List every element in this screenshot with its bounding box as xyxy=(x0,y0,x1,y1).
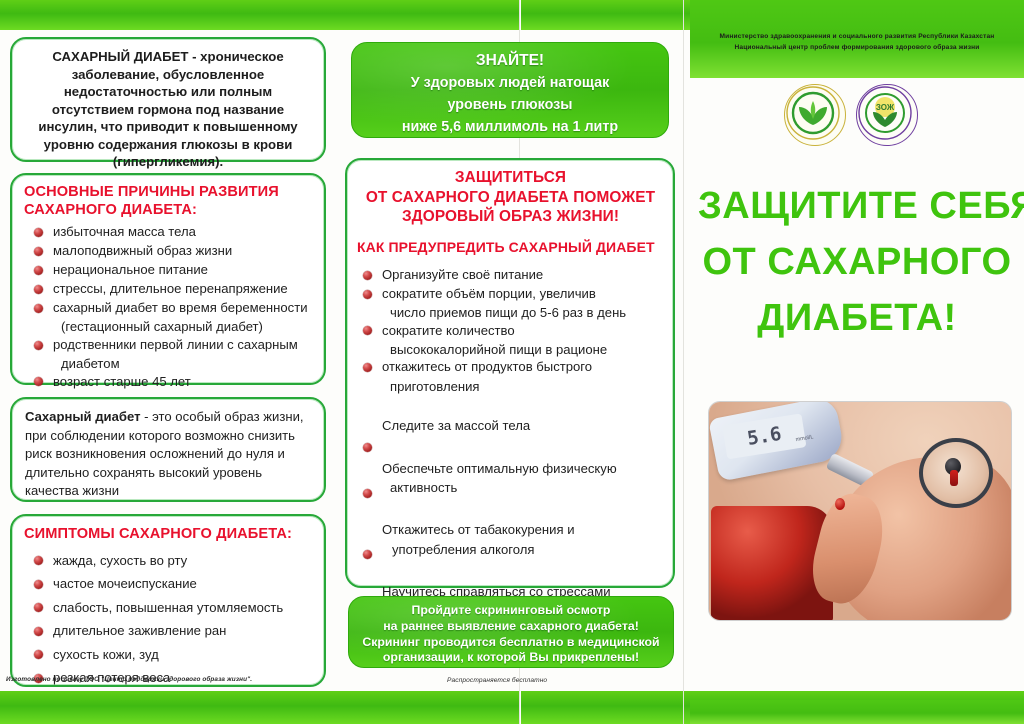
list-item-continuation: диабетом xyxy=(32,355,314,373)
protect-heading-line-3: ЗДОРОВЫЙ ОБРАЗ ЖИЗНИ! xyxy=(357,207,664,227)
bullet-icon xyxy=(34,627,43,636)
bullet-icon xyxy=(34,266,43,275)
list-item-text: нерациональное питание xyxy=(53,262,208,277)
list-item-text: частое мочеиспускание xyxy=(53,576,197,591)
list-item: сухость кожи, зуд xyxy=(32,646,314,664)
definition-line-3: недостаточностью или полным xyxy=(26,83,310,101)
bullet-icon xyxy=(34,285,43,294)
causes-heading: ОСНОВНЫЕ ПРИЧИНЫ РАЗВИТИЯ САХАРНОГО ДИАБ… xyxy=(24,184,314,219)
page-title-line-2: ОТ САХАРНОГО xyxy=(698,234,1016,290)
bullet-icon xyxy=(34,377,43,386)
list-item-text: жажда, сухость во рту xyxy=(53,553,187,568)
definition-line-6: уровню содержания глюкозы в крови xyxy=(26,136,310,154)
top-band-left xyxy=(0,0,519,30)
zozh-emblem-icon: ЗОЖ xyxy=(856,84,918,146)
screening-line-1: Пройдите скрининговый осмотр xyxy=(349,603,673,619)
svg-text:ЗОЖ: ЗОЖ xyxy=(876,103,895,112)
list-item-text: Откажитесь от табакокурения и xyxy=(382,522,575,537)
page-title-line-1: ЗАЩИТИТЕ СЕБЯ xyxy=(698,178,1016,234)
list-item-text: малоподвижный образ жизни xyxy=(53,243,232,258)
test-strip-icon xyxy=(919,438,993,508)
list-item: частое мочеиспускание xyxy=(32,575,314,593)
know-box-line-3: ниже 5,6 миллимоль на 1 литр xyxy=(352,116,668,138)
bullet-icon xyxy=(34,580,43,589)
glucometer-photo: 5.6 mmol/L xyxy=(708,401,1012,621)
list-item: нерациональное питание xyxy=(32,261,314,279)
definition-text: САХАРНЫЙ ДИАБЕТ - хроническое заболевани… xyxy=(12,39,324,179)
screening-line-4: организации, к которой Вы прикреплены! xyxy=(349,650,673,666)
symptoms-heading: СИМПТОМЫ САХАРНОГО ДИАБЕТА: xyxy=(24,526,314,544)
list-item: стрессы, длительное перенапряжение xyxy=(32,280,314,298)
brochure-page: САХАРНЫЙ ДИАБЕТ - хроническое заболевани… xyxy=(0,0,1024,724)
ministry-line-2: Национальный центр проблем формирования … xyxy=(704,43,1010,54)
lifestyle-note-text: Сахарный диабет - это особый образ жизни… xyxy=(12,399,324,509)
list-item-text: сократите количество xyxy=(382,323,515,338)
list-item: длительное заживление ран xyxy=(32,622,314,640)
protect-subheading: КАК ПРЕДУПРЕДИТЬ САХАРНЫЙ ДИАБЕТ xyxy=(357,239,664,257)
definition-line-7: (гипергликемия). xyxy=(26,153,310,171)
list-item-continuation: активность xyxy=(361,479,664,497)
definition-line-2: заболевание, обусловленное xyxy=(26,66,310,84)
bullet-icon xyxy=(34,304,43,313)
know-box: ЗНАЙТЕ! У здоровых людей натощак уровень… xyxy=(351,42,669,138)
list-item-text: сократите объём порции, увеличив xyxy=(382,286,596,301)
list-item-text: Обеспечьте оптимальную физическую xyxy=(382,461,617,476)
definition-card: САХАРНЫЙ ДИАБЕТ - хроническое заболевани… xyxy=(10,37,326,162)
protect-heading: ЗАЩИТИТЬСЯ ОТ САХАРНОГО ДИАБЕТА ПОМОЖЕТ … xyxy=(357,168,664,227)
bullet-icon xyxy=(34,341,43,350)
screening-line-3: Скрининг проводится бесплатно в медицинс… xyxy=(349,635,673,651)
bullet-icon xyxy=(34,247,43,256)
list-item: сократите количество xyxy=(361,322,664,340)
fold-line-2 xyxy=(683,0,684,724)
bullet-icon xyxy=(363,443,372,452)
list-item: малоподвижный образ жизни xyxy=(32,242,314,260)
logo-group: ЗОЖ xyxy=(782,84,932,146)
list-item-text: избыточная масса тела xyxy=(53,224,196,239)
bullet-icon xyxy=(34,556,43,565)
list-item: возраст старше 45 лет xyxy=(32,373,314,391)
know-box-title: ЗНАЙТЕ! xyxy=(352,43,668,70)
list-item-text: сахарный диабет во время беременности xyxy=(53,300,308,315)
list-item-text: возраст старше 45 лет xyxy=(53,374,191,389)
bullet-icon xyxy=(363,363,372,372)
definition-line-5: инсулин, что приводит к повышенному xyxy=(26,118,310,136)
list-item: слабость, повышенная утомляемость xyxy=(32,599,314,617)
list-item-text: Следите за массой тела xyxy=(382,418,530,433)
bullet-icon xyxy=(363,489,372,498)
list-item: откажитесь от продуктов быстрого xyxy=(361,358,664,376)
healthy-lifestyle-emblem-icon xyxy=(784,84,846,146)
lifestyle-note-card: Сахарный диабет - это особый образ жизни… xyxy=(10,397,326,502)
bottom-band-left xyxy=(0,691,519,724)
list-item: жажда, сухость во рту xyxy=(32,552,314,570)
list-item: родственники первой линии с сахарным xyxy=(32,336,314,354)
bullet-icon xyxy=(34,228,43,237)
ministry-header: Министерство здравоохранения и социально… xyxy=(704,32,1010,53)
list-item-text: слабость, повышенная утомляемость xyxy=(53,600,283,615)
list-item-continuation: употребления алкоголя xyxy=(361,541,664,559)
list-item-text: откажитесь от продуктов быстрого xyxy=(382,359,592,374)
symptoms-list: жажда, сухость во рту частое мочеиспуска… xyxy=(24,552,314,688)
definition-line-4: отсутствием гормона под название xyxy=(26,101,310,119)
symptoms-card: СИМПТОМЫ САХАРНОГО ДИАБЕТА: жажда, сухос… xyxy=(10,514,326,687)
page-title-line-3: ДИАБЕТА! xyxy=(698,290,1016,346)
strip-blood-icon xyxy=(950,470,958,486)
list-item: Обеспечьте оптимальную физическую xyxy=(361,460,664,478)
page-title: ЗАЩИТИТЕ СЕБЯ ОТ САХАРНОГО ДИАБЕТА! xyxy=(698,178,1016,346)
causes-heading-line-1: ОСНОВНЫЕ ПРИЧИНЫ РАЗВИТИЯ xyxy=(24,184,314,202)
ministry-line-1: Министерство здравоохранения и социально… xyxy=(704,32,1010,43)
list-item-continuation: приготовления xyxy=(361,378,664,396)
list-item: Откажитесь от табакокурения и xyxy=(361,521,664,539)
causes-card: ОСНОВНЫЕ ПРИЧИНЫ РАЗВИТИЯ САХАРНОГО ДИАБ… xyxy=(10,173,326,385)
list-item-text: Организуйте своё питание xyxy=(382,267,543,282)
definition-line-1: САХАРНЫЙ ДИАБЕТ - хроническое xyxy=(26,48,310,66)
know-box-line-1: У здоровых людей натощак xyxy=(352,72,668,94)
list-item-text: сухость кожи, зуд xyxy=(53,647,159,662)
causes-heading-line-2: САХАРНОГО ДИАБЕТА: xyxy=(24,202,314,220)
bullet-icon xyxy=(363,326,372,335)
screening-box: Пройдите скрининговый осмотр на раннее в… xyxy=(348,596,674,668)
know-box-line-2: уровень глюкозы xyxy=(352,94,668,116)
list-item-continuation: (гестационный сахарный диабет) xyxy=(32,318,314,336)
causes-list: избыточная масса тела малоподвижный обра… xyxy=(24,223,314,390)
list-item-text: родственники первой линии с сахарным xyxy=(53,337,298,352)
protect-card: ЗАЩИТИТЬСЯ ОТ САХАРНОГО ДИАБЕТА ПОМОЖЕТ … xyxy=(345,158,675,588)
list-item: сахарный диабет во время беременности xyxy=(32,299,314,317)
protect-heading-line-1: ЗАЩИТИТЬСЯ xyxy=(357,168,664,188)
bullet-icon xyxy=(34,650,43,659)
bullet-icon xyxy=(363,290,372,299)
left-footer-text: Изготовлено по заказу ТОО "Центр поддерж… xyxy=(6,676,336,683)
list-item: сократите объём порции, увеличив xyxy=(361,285,664,303)
list-item: Организуйте своё питание xyxy=(361,266,664,284)
glucometer-reading: 5.6 xyxy=(722,413,806,459)
list-item-text: стрессы, длительное перенапряжение xyxy=(53,281,288,296)
list-item-text: длительное заживление ран xyxy=(53,623,226,638)
protect-heading-line-2: ОТ САХАРНОГО ДИАБЕТА ПОМОЖЕТ xyxy=(357,188,664,208)
screening-line-2: на раннее выявление сахарного диабета! xyxy=(349,619,673,635)
bullet-icon xyxy=(363,271,372,280)
blood-drop-icon xyxy=(835,498,845,510)
protect-list: Организуйте своё питание сократите объём… xyxy=(357,266,664,601)
bullet-icon xyxy=(34,603,43,612)
middle-footer-text: Распространяется бесплатно xyxy=(447,677,687,684)
lifestyle-note-lead: Сахарный диабет xyxy=(25,409,141,424)
list-item-continuation: высококалорийной пищи в рационе xyxy=(361,341,664,359)
list-item-continuation: число приемов пищи до 5-6 раз в день xyxy=(361,304,664,322)
list-item: избыточная масса тела xyxy=(32,223,314,241)
list-item: Следите за массой тела xyxy=(361,417,664,435)
